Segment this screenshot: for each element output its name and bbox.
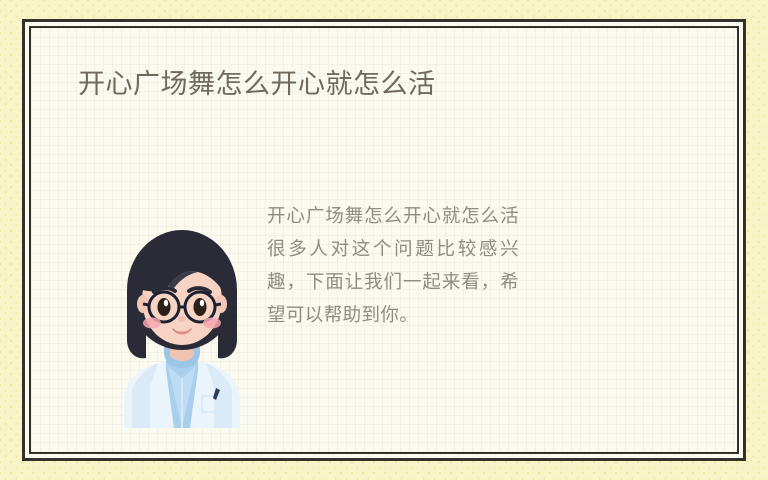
page-background: 开心广场舞怎么开心就怎么活 <box>0 0 768 480</box>
article-body: 开心广场舞怎么开心就怎么活很多人对这个问题比较感兴趣，下面让我们一起来看，希望可… <box>267 201 519 333</box>
article-body-row: 开心广场舞怎么开心就怎么活很多人对这个问题比较感兴趣，下面让我们一起来看，希望可… <box>31 176 737 436</box>
decorative-frame-outer: 开心广场舞怎么开心就怎么活 <box>22 19 746 461</box>
avatar <box>106 228 258 428</box>
page-title: 开心广场舞怎么开心就怎么活 <box>78 68 678 102</box>
content-card: 开心广场舞怎么开心就怎么活 <box>29 26 739 454</box>
avatar-illustration <box>106 228 258 428</box>
